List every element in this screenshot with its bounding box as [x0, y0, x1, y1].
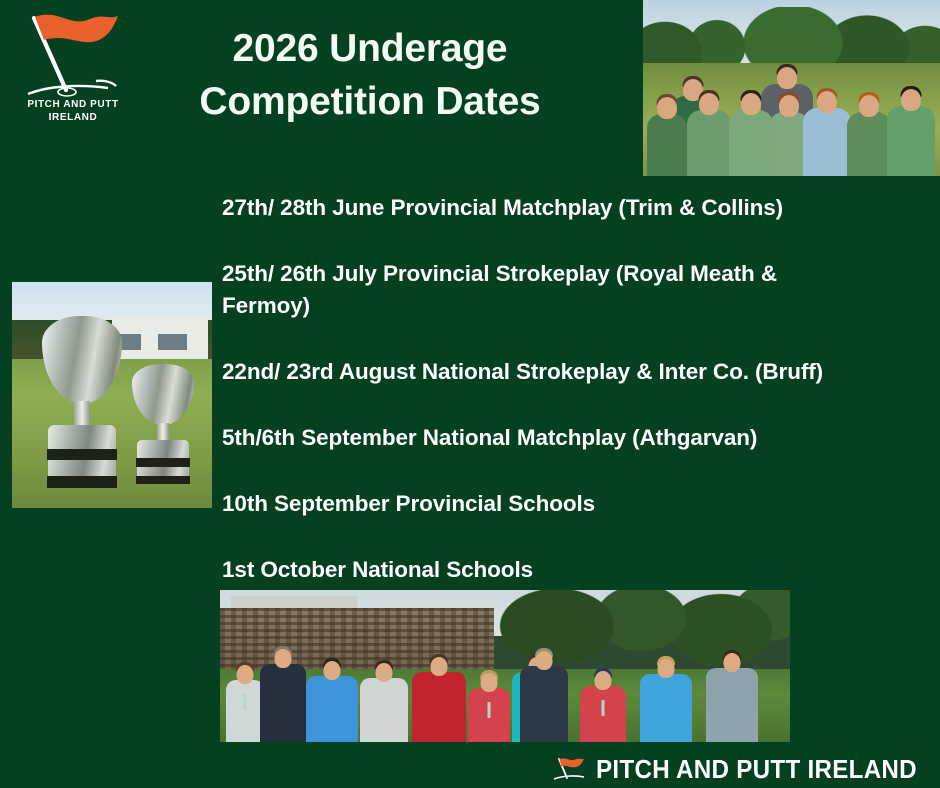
photo-content: [220, 590, 790, 742]
logo-text: PITCH AND PUTT IRELAND: [8, 98, 138, 124]
page-title: 2026 Underage Competition Dates: [150, 22, 590, 128]
photo-content: [12, 282, 212, 508]
list-item: 22nd/ 23rd August National Strokeplay & …: [222, 356, 908, 388]
list-item: 25th/ 26th July Provincial Strokeplay (R…: [222, 258, 852, 322]
footer-brand: PITCH AND PUTT IRELAND: [552, 752, 940, 786]
footer-brand-text: PITCH AND PUTT IRELAND: [596, 754, 917, 785]
photo-trophies: [12, 282, 212, 508]
flag-icon: [8, 6, 138, 101]
photo-schools-group: [220, 590, 790, 742]
pitch-and-putt-ireland-logo: PITCH AND PUTT IRELAND: [8, 6, 138, 131]
list-item: 27th/ 28th June Provincial Matchplay (Tr…: [222, 192, 908, 224]
photo-content: [643, 0, 940, 176]
logo-text-line2: IRELAND: [49, 112, 98, 123]
list-item: 5th/6th September National Matchplay (At…: [222, 422, 908, 454]
competition-dates-list: 27th/ 28th June Provincial Matchplay (Tr…: [222, 192, 908, 586]
photo-youth-team-bench: [643, 0, 940, 176]
page-title-line2: Competition Dates: [150, 75, 590, 128]
list-item: 1st October National Schools: [222, 554, 908, 586]
poster-canvas: PITCH AND PUTT IRELAND 2026 Underage Com…: [0, 0, 940, 788]
flag-icon: [552, 756, 588, 782]
page-title-line1: 2026 Underage: [150, 22, 590, 75]
logo-text-line1: PITCH AND PUTT: [27, 99, 118, 110]
list-item: 10th September Provincial Schools: [222, 488, 908, 520]
